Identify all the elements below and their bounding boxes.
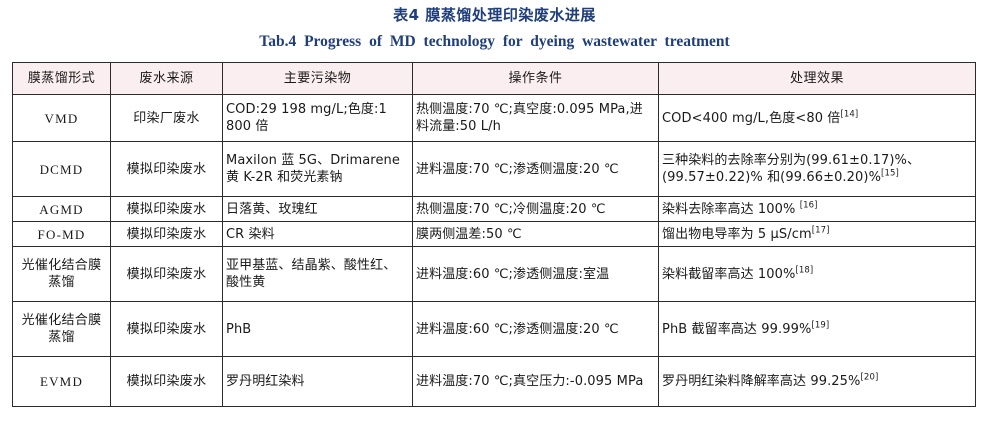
reference-marker: [17]: [812, 225, 830, 235]
column-header-wastewater-source: 废水来源: [111, 63, 223, 95]
table-header-row: 膜蒸馏形式 废水来源 主要污染物 操作条件 处理效果: [13, 63, 976, 95]
cell-md-type: VMD: [13, 95, 111, 142]
reference-marker: [18]: [796, 265, 814, 275]
cell-pollutants: 罗丹明红染料: [223, 357, 413, 407]
table-row: AGMD 模拟印染废水 日落黄、玫瑰红 热侧温度:70 ℃;冷侧温度:20 ℃ …: [13, 197, 976, 222]
cell-effect-text: 染料去除率高达 100%: [662, 202, 800, 217]
cell-effect-text: 罗丹明红染料降解率高达 99.25%: [662, 374, 861, 389]
cell-pollutants: COD:29 198 mg/L;色度:1 800 倍: [223, 95, 413, 142]
column-header-main-pollutants: 主要污染物: [223, 63, 413, 95]
cell-source: 模拟印染废水: [111, 142, 223, 197]
table-header: 膜蒸馏形式 废水来源 主要污染物 操作条件 处理效果: [13, 63, 976, 95]
cell-conditions: 热侧温度:70 ℃;真空度:0.095 MPa,进料流量:50 L/h: [413, 95, 659, 142]
cell-source: 模拟印染废水: [111, 302, 223, 357]
cell-effect: 罗丹明红染料降解率高达 99.25%[20]: [659, 357, 976, 407]
cell-pollutants: 日落黄、玫瑰红: [223, 197, 413, 222]
table-body: VMD 印染厂废水 COD:29 198 mg/L;色度:1 800 倍 热侧温…: [13, 95, 976, 407]
table-title-english: Tab.4 Progress of MD technology for dyei…: [0, 24, 989, 51]
column-header-treatment-effect: 处理效果: [659, 63, 976, 95]
cell-md-type: DCMD: [13, 142, 111, 197]
cell-source: 模拟印染废水: [111, 247, 223, 302]
table-figure-page: 表4 膜蒸馏处理印染废水进展 Tab.4 Progress of MD tech…: [0, 0, 989, 430]
cell-effect: 馏出物电导率为 5 μS/cm[17]: [659, 222, 976, 247]
column-header-operating-conditions: 操作条件: [413, 63, 659, 95]
cell-md-type: 光催化结合膜蒸馏: [13, 247, 111, 302]
cell-pollutants: Maxilon 蓝 5G、Drimarene 黄 K-2R 和荧光素钠: [223, 142, 413, 197]
cell-source: 模拟印染废水: [111, 222, 223, 247]
reference-marker: [19]: [811, 320, 829, 330]
cell-effect-text: 馏出物电导率为 5 μS/cm: [662, 227, 812, 242]
cell-md-type: 光催化结合膜蒸馏: [13, 302, 111, 357]
cell-conditions: 进料温度:70 ℃;渗透侧温度:20 ℃: [413, 142, 659, 197]
cell-effect-text: COD<400 mg/L,色度<80 倍: [662, 111, 840, 126]
table-row: 光催化结合膜蒸馏 模拟印染废水 亚甲基蓝、结晶紫、酸性红、酸性黄 进料温度:60…: [13, 247, 976, 302]
table-row: EVMD 模拟印染废水 罗丹明红染料 进料温度:70 ℃;真空压力:-0.095…: [13, 357, 976, 407]
cell-conditions: 进料温度:60 ℃;渗透侧温度:室温: [413, 247, 659, 302]
cell-source: 模拟印染废水: [111, 197, 223, 222]
table-title-chinese: 表4 膜蒸馏处理印染废水进展: [0, 0, 989, 24]
cell-effect: PhB 截留率高达 99.99%[19]: [659, 302, 976, 357]
cell-effect: 染料截留率高达 100%[18]: [659, 247, 976, 302]
cell-conditions: 进料温度:60 ℃;渗透侧温度:20 ℃: [413, 302, 659, 357]
reference-marker: [14]: [840, 109, 858, 119]
cell-pollutants: 亚甲基蓝、结晶紫、酸性红、酸性黄: [223, 247, 413, 302]
cell-md-type: AGMD: [13, 197, 111, 222]
cell-effect-text: 染料截留率高达 100%: [662, 267, 796, 282]
cell-pollutants: CR 染料: [223, 222, 413, 247]
cell-source: 印染厂废水: [111, 95, 223, 142]
cell-conditions: 热侧温度:70 ℃;冷侧温度:20 ℃: [413, 197, 659, 222]
cell-conditions: 膜两侧温差:50 ℃: [413, 222, 659, 247]
reference-marker: [20]: [861, 373, 879, 383]
cell-md-type: FO-MD: [13, 222, 111, 247]
md-dyeing-wastewater-table: 膜蒸馏形式 废水来源 主要污染物 操作条件 处理效果 VMD 印染厂废水 COD…: [12, 62, 976, 407]
cell-effect: COD<400 mg/L,色度<80 倍[14]: [659, 95, 976, 142]
table-row: 光催化结合膜蒸馏 模拟印染废水 PhB 进料温度:60 ℃;渗透侧温度:20 ℃…: [13, 302, 976, 357]
cell-source: 模拟印染废水: [111, 357, 223, 407]
table-row: DCMD 模拟印染废水 Maxilon 蓝 5G、Drimarene 黄 K-2…: [13, 142, 976, 197]
cell-effect: 三种染料的去除率分别为(99.61±0.17)%、(99.57±0.22)% 和…: [659, 142, 976, 197]
cell-effect: 染料去除率高达 100% [16]: [659, 197, 976, 222]
reference-marker: [15]: [881, 169, 899, 179]
table-row: VMD 印染厂废水 COD:29 198 mg/L;色度:1 800 倍 热侧温…: [13, 95, 976, 142]
cell-conditions: 进料温度:70 ℃;真空压力:-0.095 MPa: [413, 357, 659, 407]
column-header-md-type: 膜蒸馏形式: [13, 63, 111, 95]
table-row: FO-MD 模拟印染废水 CR 染料 膜两侧温差:50 ℃ 馏出物电导率为 5 …: [13, 222, 976, 247]
cell-md-type: EVMD: [13, 357, 111, 407]
reference-marker: [16]: [800, 200, 818, 210]
cell-effect-text: PhB 截留率高达 99.99%: [662, 322, 811, 337]
cell-pollutants: PhB: [223, 302, 413, 357]
